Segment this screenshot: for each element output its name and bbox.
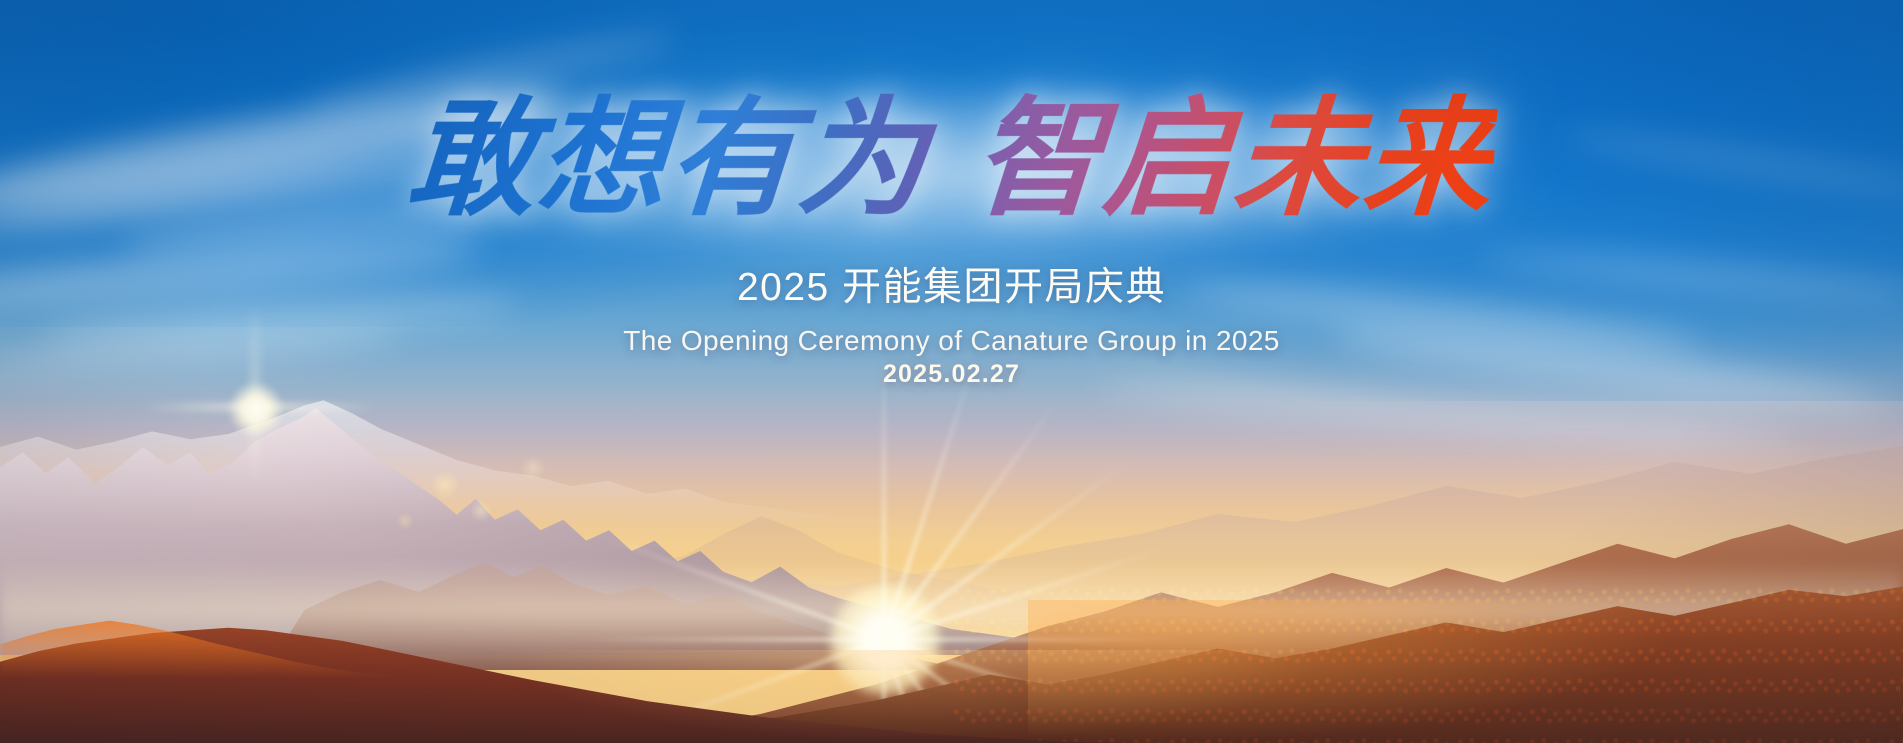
event-date: 2025.02.27 [0,360,1903,389]
valley-glow [495,650,1332,743]
headline-area: 敢想有为智启未来 [0,84,1903,235]
sunburst-rays [884,638,886,640]
subtitle-english: The Opening Ceremony of Canature Group i… [0,323,1903,359]
headline-left-phrase: 敢想有为 [403,84,934,234]
lens-flare-streak [140,404,380,410]
subtitle-chinese: 2025 开能集团开局庆典 [0,262,1903,315]
subtitle-area: 2025 开能集团开局庆典 The Opening Ceremony of Ca… [0,262,1903,359]
headline-right-phrase: 智启未来 [969,84,1500,234]
event-banner: 敢想有为智启未来 2025 开能集团开局庆典 The Opening Cerem… [0,0,1903,743]
headline-calligraphy: 敢想有为智启未来 [403,84,1500,235]
